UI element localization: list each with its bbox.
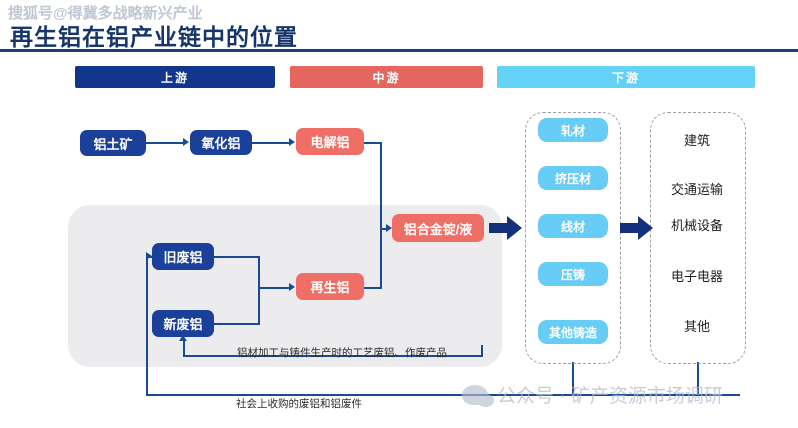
node-old-scrap[interactable]: 旧废铝 [152,243,214,270]
connector-newscrap-right [214,323,260,325]
connector-regen-up [380,228,382,288]
connector-electrolytic-down [380,142,382,229]
connector-bauxite-alumina [146,142,184,144]
connector-merge-regen [258,287,290,289]
connector-note1-up [183,341,185,356]
enduse-construction: 建筑 [654,128,740,150]
connector-note2-up [146,256,148,395]
watermark-bottom: 公众号 · 矿产资源市场调研 [462,381,723,408]
wechat-icon [462,385,488,405]
title-divider [0,49,798,52]
node-alumina[interactable]: 氧化铝 [190,130,252,155]
node-electrolytic-aluminum[interactable]: 电解铝 [296,128,364,155]
enduse-electronics: 电子电器 [654,264,740,286]
product-extruded[interactable]: 挤压材 [538,166,608,190]
product-diecast[interactable]: 压铸 [538,262,608,286]
page-title: 再生铝在铝产业链中的位置 [10,18,298,52]
segment-header-downstream: 下游 [497,66,755,88]
arrowhead-bauxite-alumina [183,138,189,146]
product-rolled[interactable]: 轧材 [538,118,608,142]
enduse-machinery: 机械设备 [654,213,740,235]
segment-header-midstream: 中游 [290,66,483,88]
enduse-transportation: 交通运输 [654,177,740,199]
node-recycled-aluminum[interactable]: 再生铝 [296,273,364,300]
annotation-new-scrap: 铝材加工与铸件生产时的工艺废铝、作废产品 [237,345,447,360]
node-bauxite[interactable]: 铝土矿 [80,130,146,156]
arrowhead-alumina-electrolytic [289,138,295,146]
block-arrow-to-products [489,215,523,241]
product-wire[interactable]: 线材 [538,214,608,238]
segment-header-upstream: 上游 [75,66,275,88]
watermark-bottom-text: 公众号 · 矿产资源市场调研 [497,381,723,408]
connector-alumina-electrolytic [252,142,290,144]
connector-scrap-merge [258,256,260,324]
arrowhead-merge-regen [289,283,295,291]
diagram-canvas: 搜狐号@得冀多战略新兴产业 再生铝在铝产业链中的位置 上游 中游 下游 铝土矿 … [0,0,798,428]
block-arrow-to-enduses [620,215,654,241]
node-new-scrap[interactable]: 新废铝 [152,310,214,337]
annotation-old-scrap: 社会上收购的废铝和铝废件 [236,396,362,411]
enduse-other: 其他 [654,314,740,336]
connector-note1-source [481,345,483,356]
connector-oldscrap-right [214,256,260,258]
product-other-casting[interactable]: 其他铸造 [538,320,608,344]
node-aluminum-alloy-ingot[interactable]: 铝合金锭/液 [392,214,484,242]
